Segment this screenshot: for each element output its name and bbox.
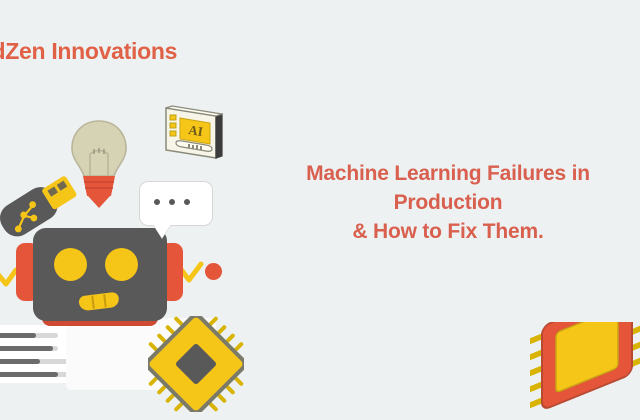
robot-mouth — [78, 292, 120, 312]
brand-title: oudZen Innovations — [0, 38, 177, 65]
typing-dots — [154, 199, 190, 205]
typing-dot — [154, 199, 160, 205]
robot-eye-right — [105, 248, 138, 281]
typing-dot — [169, 199, 175, 205]
ai-card-icon: AI — [152, 100, 232, 177]
document-row — [0, 333, 36, 338]
headline-line-2: Production — [262, 189, 634, 218]
robot-eye-left — [54, 248, 87, 281]
document-row — [0, 372, 58, 377]
robot-head — [33, 228, 167, 321]
cpu-chip-icon — [530, 322, 640, 420]
headline-line-1: Machine Learning Failures in — [262, 160, 634, 189]
slide-canvas: oudZen Innovations Machine Learning Fail… — [0, 0, 640, 420]
light-bulb-icon — [68, 118, 130, 215]
speech-bubble — [139, 181, 213, 226]
typing-dot — [184, 199, 190, 205]
page-title: Machine Learning Failures in Production … — [262, 160, 634, 247]
document-row — [0, 346, 53, 351]
ai-card-label: AI — [187, 122, 204, 139]
speech-bubble-tail — [153, 224, 171, 238]
headline-line-3: & How to Fix Them. — [262, 218, 634, 247]
robot-antenna-knob — [205, 263, 222, 280]
microchip-diamond-icon — [148, 316, 244, 417]
document-row — [0, 359, 40, 364]
